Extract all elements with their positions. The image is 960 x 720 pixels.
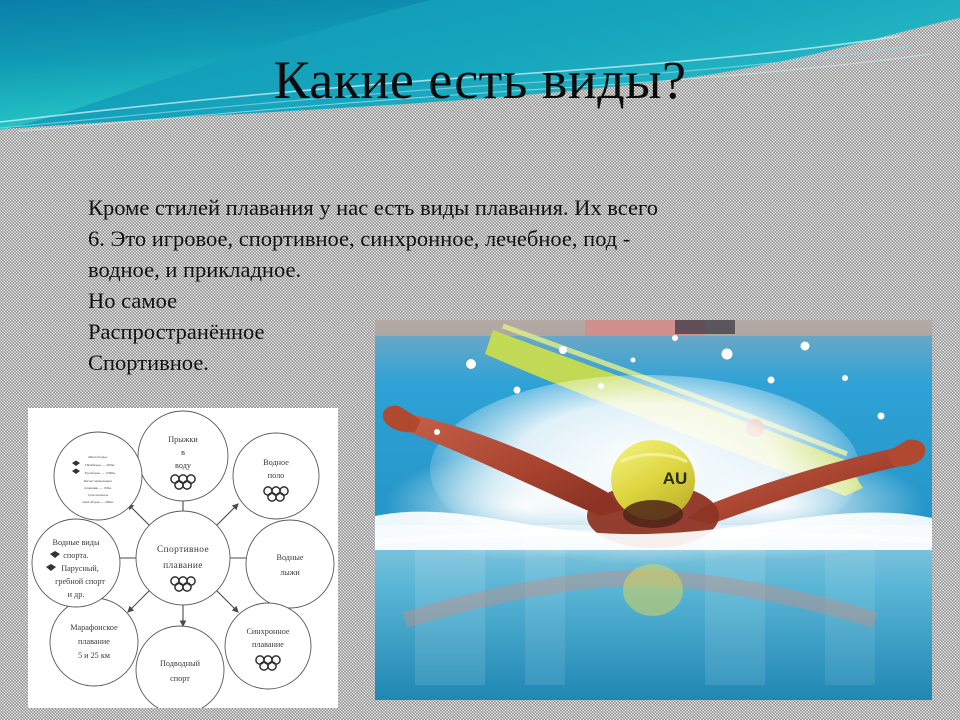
diagram-node-multi-event [54,432,142,520]
swimmer-face [623,500,683,528]
slide-body-text: Кроме стилей плавания у нас есть виды пл… [88,192,918,378]
node-multi-line-6: Спасательное [88,493,109,497]
node-sync-line-2: плавание [252,640,284,649]
body-line-6: Спортивное. [88,347,388,378]
node-ski-line-1: Водные [276,553,303,562]
node-marathon-line-1: Марафонское [70,623,118,632]
reflected-cap [623,564,683,616]
node-under-line-2: спорт [170,674,190,683]
node-watersports-line-5: и др. [68,590,85,599]
diagram-graphic: Прыжки в воду Водное поло Водные лыжи Си… [28,408,338,708]
node-polo-line-2: поло [268,471,285,480]
node-multi-line-1: Многоборье: [88,455,107,459]
node-watersports-line-1: Водные виды [53,538,100,547]
node-sync-line-1: Синхронное [246,627,289,636]
body-line-3: водное, и прикладное. [88,254,918,285]
body-line-4: Но самое [88,285,388,316]
node-watersports-line-4: гребной спорт [55,577,105,586]
body-line-1: Кроме стилей плавания у нас есть виды пл… [88,192,918,223]
diagram-center-line-1: Спортивное [157,545,209,555]
body-line-2: 6. Это игровое, спортивное, синхронное, … [88,223,918,254]
presentation-slide: Какие есть виды? Кроме стилей плавания у… [0,0,960,720]
node-under-line-1: Подводный [160,659,201,668]
node-jumps-line-1: Прыжки [168,435,198,444]
diagram-node-center [136,511,230,605]
sport-swimming-diagram: Прыжки в воду Водное поло Водные лыжи Си… [28,408,338,708]
node-ski-line-2: лыжи [280,568,300,577]
swim-cap-text: AU [663,469,688,488]
body-line-5: Распространённое [88,316,388,347]
slide-title: Какие есть виды? [0,52,960,109]
node-marathon-line-2: плавание [78,637,110,646]
node-jumps-line-2: в [181,448,185,457]
node-watersports-line-3: Парусный, [61,564,99,573]
node-watersports-line-2: спорта. [63,551,88,560]
node-jumps-line-3: воду [175,461,192,470]
node-marathon-line-3: 5 и 25 км [78,651,110,660]
node-multi-line-4: Бегает прикладное [84,479,112,483]
node-polo-line-1: Водное [263,458,289,467]
diagram-node-water-skiing [246,520,334,608]
diagram-center-line-2: плавание [163,561,203,571]
node-multi-line-7: многоборье — 200м. [83,500,114,504]
